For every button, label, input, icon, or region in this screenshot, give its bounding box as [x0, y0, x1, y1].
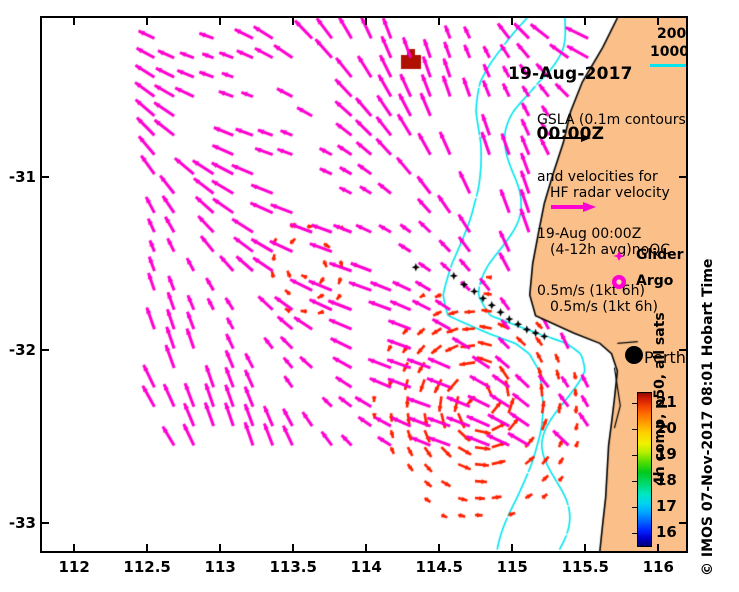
x-axis-tick-label: 113.5	[269, 558, 316, 576]
colorbar-gradient	[638, 393, 651, 546]
colorbar-tick	[632, 403, 638, 404]
x-axis-tick	[219, 544, 221, 551]
y-axis-tick-label: -33	[9, 514, 36, 532]
x-axis-tick	[219, 18, 221, 25]
x-axis-tick-label: 114	[351, 558, 382, 576]
x-axis-tick	[146, 544, 148, 551]
x-axis-tick-label: 112	[58, 558, 89, 576]
colorbar-tick	[632, 507, 638, 508]
colorbar	[637, 392, 652, 547]
x-axis-tick	[292, 18, 294, 25]
y-axis-tick	[42, 349, 49, 351]
perth-city-marker-icon	[622, 343, 646, 367]
bathymetry-200m-label: 200m	[657, 26, 688, 42]
x-axis-tick	[657, 18, 659, 25]
colorbar-tick	[632, 533, 638, 534]
argo-marker-icon	[610, 273, 628, 291]
x-axis-tick-label: 116	[643, 558, 674, 576]
x-axis-tick-label: 115.5	[562, 558, 609, 576]
glider-marker-icon	[612, 249, 626, 263]
colorbar-tick-label: 17	[656, 497, 677, 515]
x-axis-tick-label: 115	[497, 558, 528, 576]
x-axis-tick	[438, 18, 440, 25]
gsla-legend-line1: GSLA (0.1m contours)	[537, 111, 688, 130]
x-axis-tick	[584, 544, 586, 551]
colorbar-tick	[632, 455, 638, 456]
hfradar-scale-arrow-icon	[550, 201, 598, 213]
colorbar-title: 4h comp, p50, all sats	[652, 312, 668, 486]
glider-legend-label: Glider	[636, 247, 684, 263]
colorbar-tick	[632, 429, 638, 430]
argo-legend-label: Argo	[636, 273, 673, 289]
x-axis-tick	[365, 18, 367, 25]
bathymetry-legend-line	[650, 64, 688, 67]
x-axis-tick	[511, 544, 513, 551]
x-axis-tick	[292, 544, 294, 551]
colorbar-tick-label: 16	[656, 523, 677, 541]
x-axis-tick	[438, 544, 440, 551]
y-axis-tick-label: -31	[9, 168, 36, 186]
y-axis-tick	[42, 176, 49, 178]
x-axis-tick-label: 112.5	[123, 558, 170, 576]
colorbar-tick	[632, 481, 638, 482]
x-axis-tick	[657, 544, 659, 551]
y-axis-tick	[679, 522, 686, 524]
x-axis-tick	[73, 544, 75, 551]
x-axis-tick	[73, 18, 75, 25]
x-axis-tick	[365, 544, 367, 551]
gsla-scale-arrow-icon	[547, 131, 593, 145]
x-axis-tick	[146, 18, 148, 25]
map-plot-frame: 19-Aug-2017 00:00Z 200m 1000m GSLA (0.1m…	[40, 16, 688, 553]
y-axis-tick	[42, 522, 49, 524]
y-axis-tick-label: -32	[9, 341, 36, 359]
copyright-notice: © IMOS 07-Nov-2017 08:01 Hobart Time	[700, 259, 716, 576]
x-axis-tick-label: 114.5	[415, 558, 462, 576]
x-axis-tick-label: 113	[205, 558, 236, 576]
bathymetry-1000m-label: 1000m	[650, 44, 688, 60]
